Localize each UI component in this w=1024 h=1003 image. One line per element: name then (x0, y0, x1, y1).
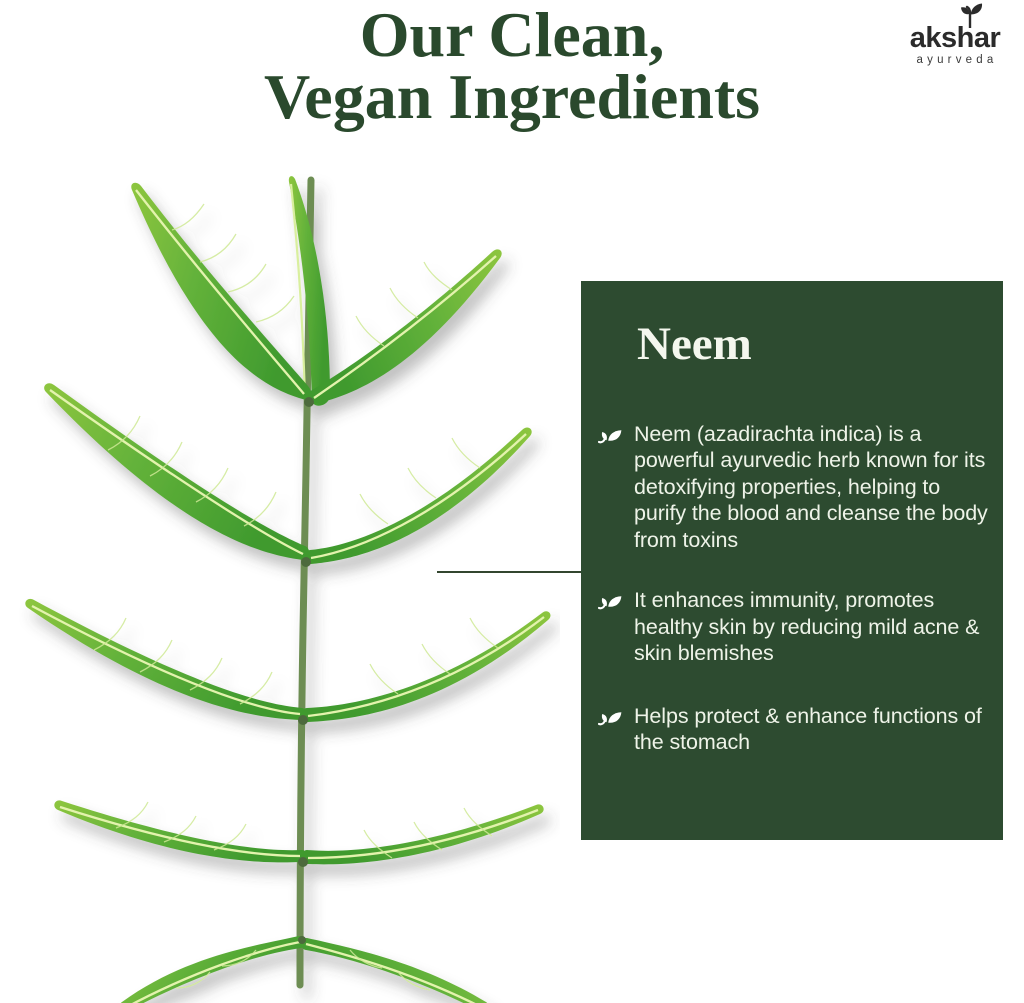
neem-leaf-illustration (0, 150, 560, 1003)
page-title-line-1: Our Clean, (360, 0, 665, 70)
ingredient-infographic-page: akshar ayurveda Our Clean, Vegan Ingredi… (0, 0, 1024, 1003)
page-title-line-2: Vegan Ingredients (0, 66, 1024, 128)
benefit-text: Neem (azadirachta indica) is a powerful … (634, 421, 991, 553)
leaf-sprig-icon (597, 592, 627, 614)
ingredient-info-card: Neem Neem (azadirachta indica) is a powe… (581, 281, 1003, 840)
benefits-list: Neem (azadirachta indica) is a powerful … (597, 421, 991, 783)
page-title: Our Clean, Vegan Ingredients (0, 4, 1024, 128)
benefit-text: Helps protect & enhance functions of the… (634, 703, 991, 756)
benefit-text: It enhances immunity, promotes healthy s… (634, 587, 991, 666)
list-item: Helps protect & enhance functions of the… (597, 703, 991, 756)
leaf-to-card-connector-line (437, 571, 583, 573)
leaf-sprig-icon (597, 426, 627, 448)
list-item: Neem (azadirachta indica) is a powerful … (597, 421, 991, 553)
ingredient-name-heading: Neem (637, 321, 752, 368)
leaf-sprig-icon (597, 708, 627, 730)
list-item: It enhances immunity, promotes healthy s… (597, 587, 991, 666)
